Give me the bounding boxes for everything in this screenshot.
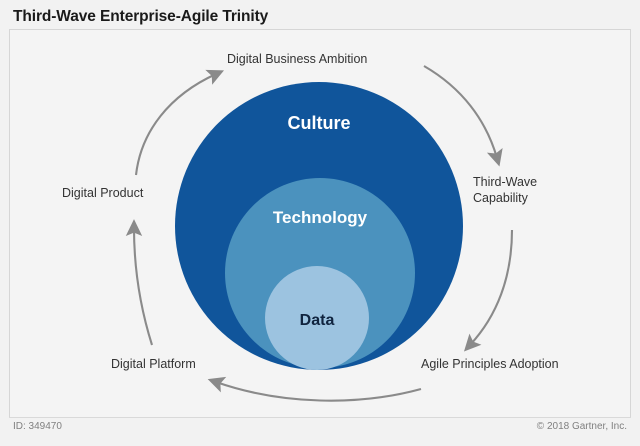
footer-divider [9,417,631,418]
ring-label-culture: Culture [175,113,463,134]
label-third-wave-capability-line1: Third-Wave [473,174,537,190]
footer-id: ID: 349470 [13,421,62,432]
ring-label-technology: Technology [225,208,415,228]
label-digital-product: Digital Product [62,185,143,201]
footer-copyright: © 2018 Gartner, Inc. [537,421,627,432]
label-digital-business-ambition: Digital Business Ambition [227,51,367,67]
label-third-wave-capability: Third-Wave Capability [473,174,537,206]
page-title: Third-Wave Enterprise-Agile Trinity [13,8,268,26]
frame-right-border [630,29,631,417]
label-agile-principles-adoption: Agile Principles Adoption [421,356,559,372]
label-digital-platform: Digital Platform [111,356,196,372]
ring-label-data: Data [265,312,369,330]
figure-container: Third-Wave Enterprise-Agile Trinity Cult… [0,0,640,446]
label-third-wave-capability-line2: Capability [473,190,537,206]
